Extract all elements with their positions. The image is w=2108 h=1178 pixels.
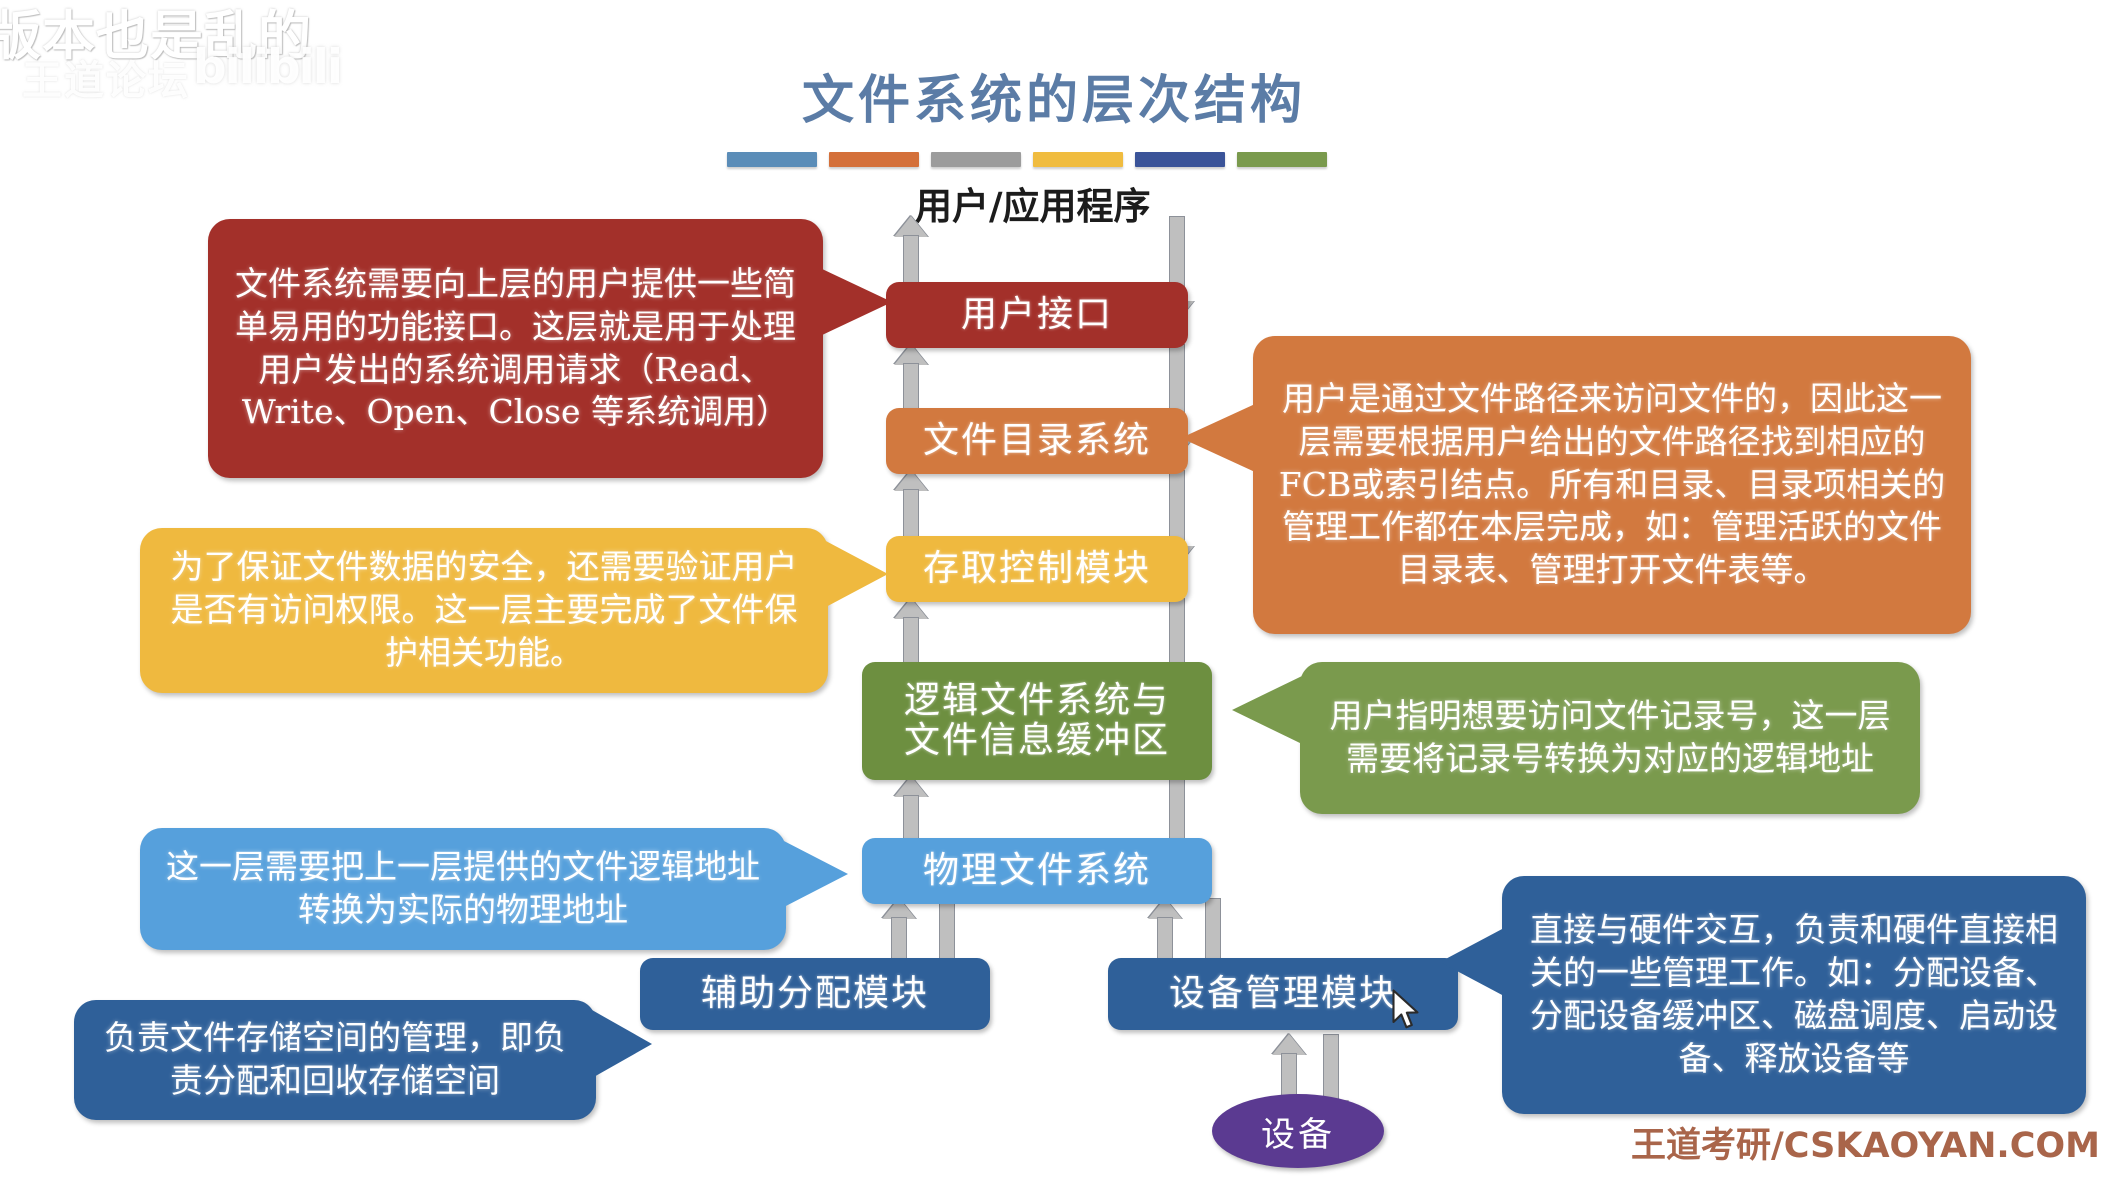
node-user-interface[interactable]: 用户接口 [886,282,1188,348]
callout-physical-file-system-note-tail [782,840,848,908]
callout-access-control-note-tail [824,540,888,608]
callout-logical-file-system-note-tail [1232,676,1302,744]
node-user-interface-label: 用户接口 [961,295,1113,335]
title-accent-bars [727,152,1327,167]
slide-canvas: 版本也是乱的 王道论坛 bilibili 文件系统的层次结构 用户/应用程序 [0,0,2108,1178]
accent-bar-6 [1237,152,1327,167]
page-title: 文件系统的层次结构 [802,70,1306,131]
node-access-control-module-label: 存取控制模块 [923,549,1151,589]
node-device-management-module-label: 设备管理模块 [1169,974,1397,1014]
node-aux-allocation-module-label: 辅助分配模块 [701,974,929,1014]
callout-logical-file-system-note-text: 用户指明想要访问文件记录号，这一层需要将记录号转换为对应的逻辑地址 [1320,695,1900,781]
callout-access-control-note[interactable]: 为了保证文件数据的安全，还需要验证用户是否有访问权限。这一层主要完成了文件保护相… [140,528,828,693]
callout-file-directory-note[interactable]: 用户是通过文件路径来访问文件的，因此这一层需要根据用户给出的文件路径找到相应的F… [1253,336,1971,634]
node-access-control-module[interactable]: 存取控制模块 [886,536,1188,602]
callout-device-management-note[interactable]: 直接与硬件交互，负责和硬件直接相关的一些管理工作。如：分配设备、分配设备缓冲区、… [1502,876,2086,1114]
node-logical-file-system-label: 逻辑文件系统与 文件信息缓冲区 [904,681,1170,762]
callout-user-interface-note[interactable]: 文件系统需要向上层的用户提供一些简单易用的功能接口。这层就是用于处理用户发出的系… [208,219,823,478]
node-aux-allocation-module[interactable]: 辅助分配模块 [640,958,990,1030]
node-device[interactable]: 设备 [1212,1094,1384,1168]
callout-user-interface-note-tail [820,268,892,336]
callout-logical-file-system-note[interactable]: 用户指明想要访问文件记录号，这一层需要将记录号转换为对应的逻辑地址 [1300,662,1920,814]
node-physical-file-system[interactable]: 物理文件系统 [862,838,1212,904]
watermark-bottom-right: 王道考研/CSKAOYAN.COM [1631,1117,2100,1168]
node-device-label: 设备 [1261,1107,1335,1156]
callout-aux-allocation-note-tail [592,1010,652,1078]
accent-bar-2 [829,152,919,167]
callout-file-directory-note-text: 用户是通过文件路径来访问文件的，因此这一层需要根据用户给出的文件路径找到相应的F… [1273,378,1951,592]
callout-user-interface-note-text: 文件系统需要向上层的用户提供一些简单易用的功能接口。这层就是用于处理用户发出的系… [228,263,803,435]
callout-physical-file-system-note[interactable]: 这一层需要把上一层提供的文件逻辑地址转换为实际的物理地址 [140,828,786,950]
callout-file-directory-note-tail [1181,404,1255,472]
accent-bar-1 [727,152,817,167]
accent-bar-3 [931,152,1021,167]
node-file-directory-system-label: 文件目录系统 [923,421,1151,461]
node-physical-file-system-label: 物理文件系统 [923,851,1151,891]
node-device-management-module[interactable]: 设备管理模块 [1108,958,1458,1030]
accent-bar-5 [1135,152,1225,167]
callout-aux-allocation-note-text: 负责文件存储空间的管理，即负责分配和回收存储空间 [94,1017,576,1103]
node-file-directory-system[interactable]: 文件目录系统 [886,408,1188,474]
callout-device-management-note-text: 直接与硬件交互，负责和硬件直接相关的一些管理工作。如：分配设备、分配设备缓冲区、… [1522,909,2066,1081]
slide-title: 文件系统的层次结构 [0,58,2108,133]
callout-device-management-note-tail [1440,928,1504,996]
accent-bar-4 [1033,152,1123,167]
callout-aux-allocation-note[interactable]: 负责文件存储空间的管理，即负责分配和回收存储空间 [74,1000,596,1120]
callout-access-control-note-text: 为了保证文件数据的安全，还需要验证用户是否有访问权限。这一层主要完成了文件保护相… [160,546,808,675]
callout-physical-file-system-note-text: 这一层需要把上一层提供的文件逻辑地址转换为实际的物理地址 [160,846,766,932]
node-logical-file-system[interactable]: 逻辑文件系统与 文件信息缓冲区 [862,662,1212,780]
diagram-header-label: 用户/应用程序 [915,176,1151,230]
